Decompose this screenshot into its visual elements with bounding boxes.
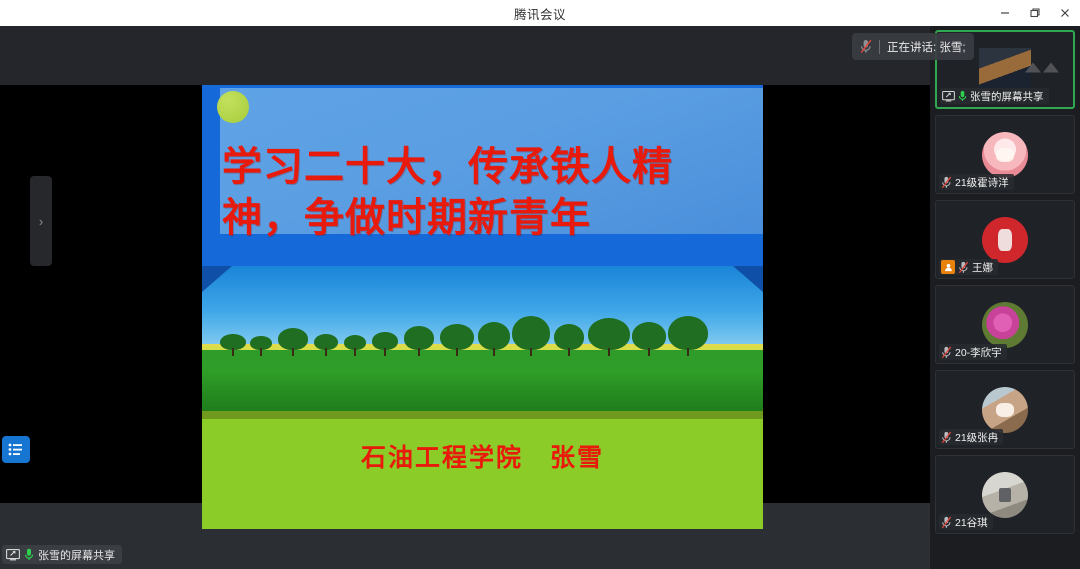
- window-controls: [990, 0, 1080, 26]
- mic-muted-icon: [941, 431, 952, 444]
- stage-left-background: [0, 85, 202, 503]
- participant-sidebar[interactable]: 张雪的屏幕共享 21级霍诗洋: [930, 26, 1080, 569]
- title-bar: 腾讯会议: [0, 0, 1080, 26]
- host-icon: [941, 260, 955, 274]
- mic-on-icon: [24, 548, 34, 561]
- participant-name: 21级霍诗洋: [955, 175, 1009, 190]
- participant-tile-5[interactable]: 21谷琪: [935, 455, 1075, 534]
- shared-screen-stage: 学习二十大，传承铁人精神，争做时期新青年 石油工程学院 张雪: [0, 26, 930, 569]
- tree: [632, 322, 666, 350]
- list-icon: [8, 443, 24, 456]
- screen-share-status-text: 张雪的屏幕共享: [38, 547, 115, 563]
- avatar: [982, 217, 1028, 263]
- tree: [478, 322, 510, 350]
- participant-name-chip: 20-李欣宇: [939, 344, 1007, 360]
- tree: [278, 328, 308, 350]
- participant-name: 21谷琪: [955, 515, 988, 530]
- participant-name-chip: 21级张冉: [939, 429, 1003, 445]
- tree: [404, 326, 434, 350]
- slide-photo: [202, 266, 763, 411]
- screen-share-icon: [942, 91, 955, 102]
- participant-name: 王娜: [972, 260, 993, 275]
- participant-tile-1[interactable]: 21级霍诗洋: [935, 115, 1075, 194]
- mic-on-icon: [958, 90, 967, 102]
- window-title: 腾讯会议: [514, 4, 566, 23]
- slide-subtitle: 石油工程学院 张雪: [202, 438, 763, 474]
- slide-green-rule: [202, 411, 763, 419]
- maximize-button[interactable]: [1020, 0, 1050, 26]
- participant-tile-2[interactable]: 王娜: [935, 200, 1075, 279]
- tree: [220, 334, 246, 350]
- expand-panel-handle[interactable]: ›: [30, 176, 52, 266]
- chevrons-icon: [1023, 58, 1063, 81]
- mic-muted-icon: [941, 176, 952, 189]
- participant-name: 20-李欣宇: [955, 345, 1002, 360]
- mic-muted-icon: [958, 261, 969, 274]
- meeting-window: 腾讯会议: [0, 0, 1080, 569]
- avatar: [982, 302, 1028, 348]
- stage-top-background: [0, 26, 930, 85]
- banner-divider: [879, 40, 880, 54]
- participant-name-chip: 王娜: [939, 259, 998, 275]
- slide-circle-decoration: [217, 91, 249, 123]
- photo-grass: [202, 350, 763, 411]
- avatar: [982, 132, 1028, 178]
- slide-title: 学习二十大，传承铁人精神，争做时期新青年: [222, 142, 752, 244]
- participant-name-chip: 张雪的屏幕共享: [940, 88, 1049, 104]
- avatar: [982, 472, 1028, 518]
- tree: [344, 335, 366, 350]
- tree: [314, 334, 338, 350]
- participant-name: 21级张冉: [955, 430, 998, 445]
- tree: [512, 316, 550, 350]
- participant-name: 张雪的屏幕共享: [970, 89, 1044, 104]
- photo-corner-right: [733, 266, 763, 292]
- mic-muted-icon: [941, 346, 952, 359]
- screen-share-icon: [6, 549, 20, 561]
- participant-name-chip: 21谷琪: [939, 514, 993, 530]
- tree: [668, 316, 708, 350]
- mic-muted-icon: [860, 39, 872, 54]
- tree: [372, 332, 398, 350]
- avatar: [982, 387, 1028, 433]
- chevron-right-icon: ›: [39, 215, 43, 228]
- screen-share-status: 张雪的屏幕共享: [2, 545, 122, 564]
- close-button[interactable]: [1050, 0, 1080, 26]
- tree: [554, 324, 584, 350]
- photo-corner-left: [202, 266, 232, 292]
- participant-tile-4[interactable]: 21级张冉: [935, 370, 1075, 449]
- mic-muted-icon: [941, 516, 952, 529]
- minimize-button[interactable]: [990, 0, 1020, 26]
- participant-tile-3[interactable]: 20-李欣宇: [935, 285, 1075, 364]
- participant-name-chip: 21级霍诗洋: [939, 174, 1014, 190]
- tree: [250, 336, 272, 350]
- speaking-banner: 正在讲话: 张雪;: [852, 33, 974, 60]
- stage-right-background: [763, 85, 930, 503]
- tree: [588, 318, 630, 350]
- tree: [440, 324, 474, 350]
- speaking-banner-text: 正在讲话: 张雪;: [887, 39, 966, 55]
- list-button[interactable]: [2, 436, 30, 463]
- slide-green-band: [202, 419, 763, 529]
